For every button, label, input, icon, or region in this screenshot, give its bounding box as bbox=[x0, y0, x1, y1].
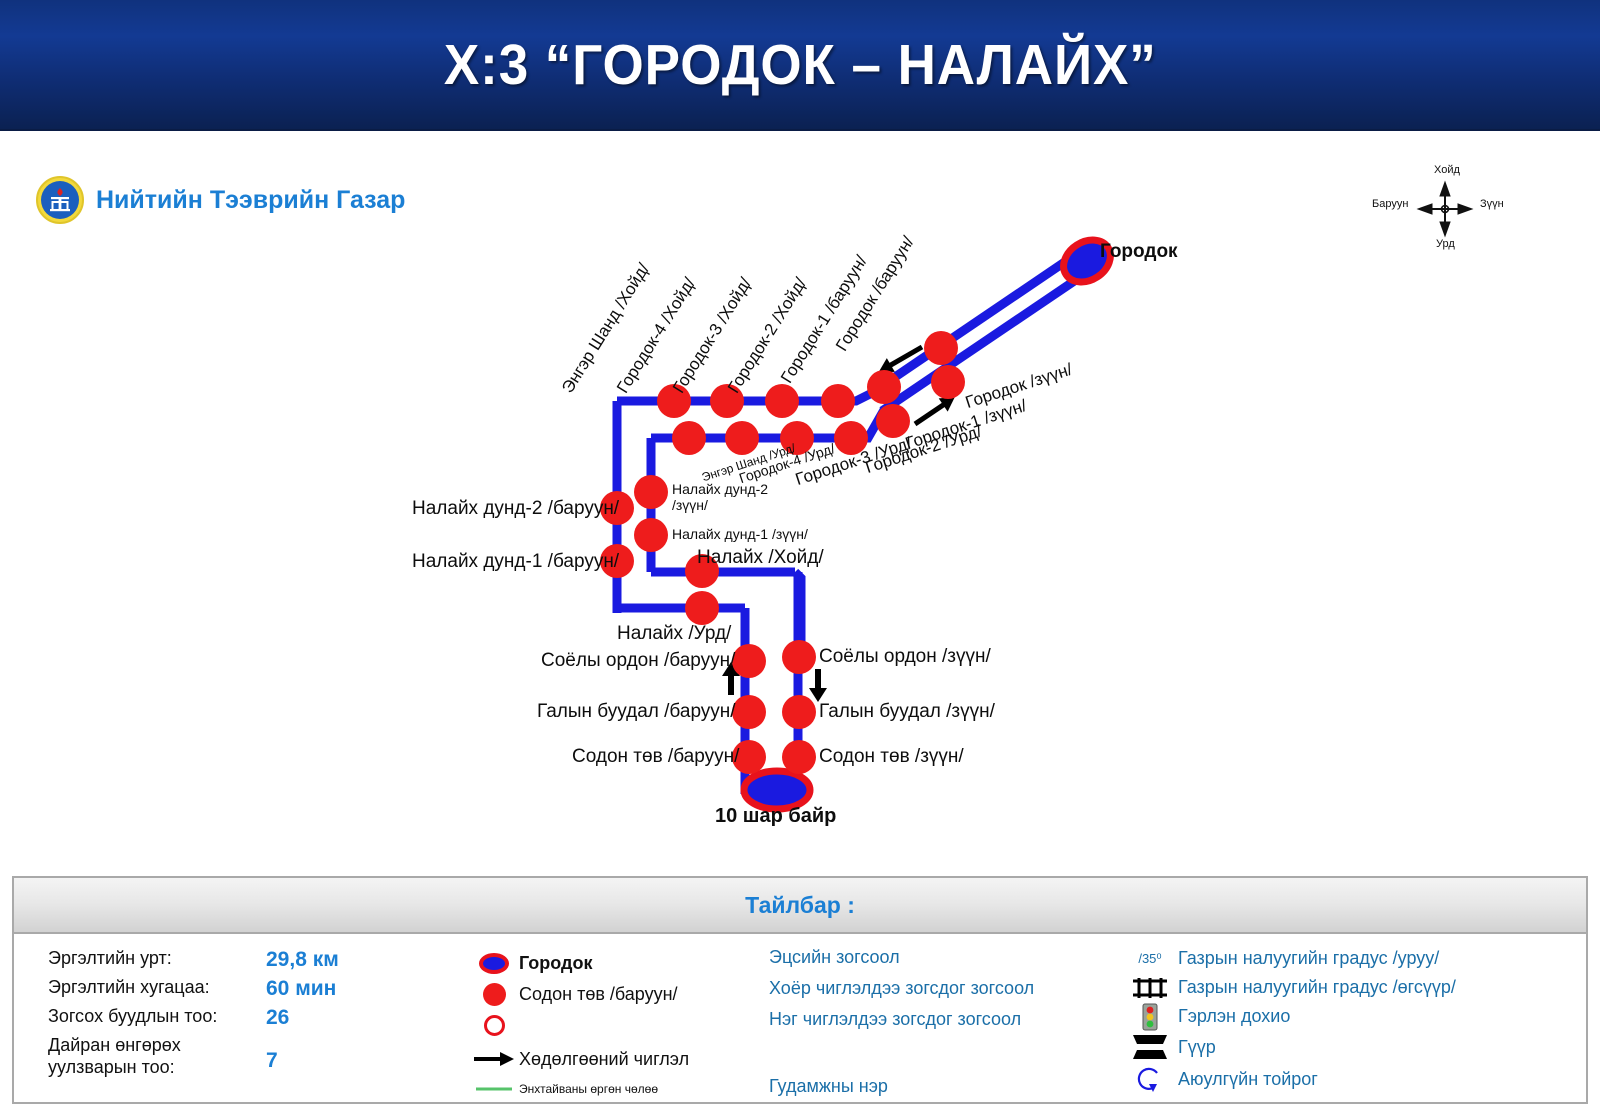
legend-item-peace-avenue: Энхтайваны өргөн чөлөө bbox=[469, 1077, 769, 1101]
legend-item-bridge: Гүүр bbox=[1122, 1031, 1562, 1063]
legend-header: Тайлбар : bbox=[14, 878, 1586, 934]
legend-text-terminal-stop: Эцсийн зогсоол bbox=[769, 948, 1099, 979]
roundabout-icon bbox=[1122, 1064, 1178, 1094]
stat-value-route-length: 29,8 км bbox=[266, 948, 339, 972]
legend-item-direction: Хөдөлгөөний чиглэл bbox=[469, 1041, 769, 1077]
page-title: X:3 “ГОРОДОК – НАЛАЙХ” bbox=[444, 32, 1157, 98]
terminal-label-gorodok: Городок bbox=[1100, 241, 1178, 263]
legend-panel: Тайлбар : Эргэлтийн урт: 29,8 км Эргэлти… bbox=[12, 876, 1588, 1104]
traffic-light-icon bbox=[1122, 1003, 1178, 1031]
title-bar: X:3 “ГОРОДОК – НАЛАЙХ” bbox=[0, 0, 1600, 131]
hollow-stop-icon bbox=[469, 1015, 519, 1036]
legend-text-street-name: Гудамжны нэр bbox=[769, 1077, 1099, 1101]
stop-label-soyol-ordon-zuun: Соёлы ордон /зүүн/ bbox=[819, 646, 991, 668]
legend-item-terminal: Городок bbox=[469, 948, 769, 979]
legend-item-bus-stop: Содон төв /баруун/ bbox=[469, 979, 769, 1010]
route-lines-svg bbox=[0, 129, 1600, 869]
legend-road-icons: /35⁰ Газрын налуугийн градус /уруу/ Газр… bbox=[1122, 944, 1562, 1095]
stop-label-galyn-buudal-zuun: Галын буудал /зүүн/ bbox=[819, 701, 995, 723]
arrow-right-icon bbox=[469, 1050, 519, 1068]
legend-label-traffic-light: Гэрлэн дохио bbox=[1178, 1006, 1290, 1027]
legend-body: Эргэлтийн урт: 29,8 км Эргэлтийн хугацаа… bbox=[14, 934, 1586, 1104]
legend-item-slope-down: /35⁰ Газрын налуугийн градус /уруу/ bbox=[1122, 944, 1562, 973]
legend-stats: Эргэлтийн урт: 29,8 км Эргэлтийн хугацаа… bbox=[48, 948, 408, 1084]
legend-text-bidirectional-stop: Хоёр чиглэлдээ зогсдог зогсоол bbox=[769, 979, 1099, 1010]
stop-label-nalaih-dund1-zuun: Налайх дунд-1 /зүүн/ bbox=[672, 526, 808, 542]
legend-text-unidirectional-stop: Нэг чиглэлдээ зогсдог зогсоол bbox=[769, 1010, 1099, 1041]
stat-label-route-length: Эргэлтийн урт: bbox=[48, 948, 266, 969]
stat-row: Дайран өнгөрөх уулзварын тоо: 7 bbox=[48, 1035, 408, 1079]
stop-label-nalaih-dund2-zuun: Налайх дунд-2 /зүүн/ bbox=[672, 481, 772, 513]
stat-value-intersection-count: 7 bbox=[266, 1035, 278, 1073]
stat-row: Эргэлтийн урт: 29,8 км bbox=[48, 948, 408, 972]
legend-item-traffic-light: Гэрлэн дохио bbox=[1122, 1002, 1562, 1031]
legend-title: Тайлбар : bbox=[745, 892, 855, 919]
stat-label-intersection-count: Дайран өнгөрөх уулзварын тоо: bbox=[48, 1035, 266, 1079]
stop-label-nalaih-hoid: Налайх /Хойд/ bbox=[697, 547, 824, 569]
legend-label-peace-avenue: Энхтайваны өргөн чөлөө bbox=[519, 1082, 658, 1096]
legend-label-direction: Хөдөлгөөний чиглэл bbox=[519, 1049, 689, 1070]
green-line-icon bbox=[469, 1085, 519, 1093]
slope-down-icon: /35⁰ bbox=[1122, 951, 1178, 967]
stop-label-nalaih-urd: Налайх /Урд/ bbox=[617, 623, 731, 645]
slope-up-icon bbox=[1122, 977, 1178, 999]
stat-label-route-time: Эргэлтийн хугацаа: bbox=[48, 977, 266, 998]
bus-stop-icon bbox=[469, 983, 519, 1006]
legend-item-roundabout: Аюулгүйн тойрог bbox=[1122, 1063, 1562, 1095]
legend-label-slope-up: Газрын налуугийн градус /өгсүүр/ bbox=[1178, 977, 1456, 998]
bridge-icon bbox=[1122, 1032, 1178, 1062]
stat-row: Эргэлтийн хугацаа: 60 мин bbox=[48, 977, 408, 1001]
slope-degree-label: /35⁰ bbox=[1138, 951, 1161, 967]
stop-label-nalaih-dund2-baruun: Налайх дунд-2 /баруун/ bbox=[412, 498, 619, 520]
stop-label-galyn-buudal-baruun: Галын буудал /баруун/ bbox=[537, 701, 736, 723]
stat-row: Зогсох буудлын тоо: 26 bbox=[48, 1006, 408, 1030]
stat-value-stop-count: 26 bbox=[266, 1006, 289, 1030]
stop-label-sodon-tov-baruun: Содон төв /баруун/ bbox=[572, 746, 739, 768]
stat-label-stop-count: Зогсох буудлын тоо: bbox=[48, 1006, 266, 1027]
legend-item-hollow-stop bbox=[469, 1010, 769, 1041]
legend-texts: Эцсийн зогсоол Хоёр чиглэлдээ зогсдог зо… bbox=[769, 948, 1099, 1101]
stop-label-nalaih-dund1-baruun: Налайх дунд-1 /баруун/ bbox=[412, 551, 619, 573]
legend-label-bus-stop: Содон төв /баруун/ bbox=[519, 984, 678, 1005]
legend-label-bridge: Гүүр bbox=[1178, 1037, 1216, 1058]
legend-label-terminal: Городок bbox=[519, 953, 593, 974]
route-map: Городок 10 шар байр Энгэр Шанд /Хойд/ Го… bbox=[0, 129, 1600, 869]
stop-label-soyol-ordon-baruun: Соёлы ордон /баруун/ bbox=[541, 650, 735, 672]
legend-text-blank bbox=[769, 1041, 1099, 1077]
terminal-label-10shar: 10 шар байр bbox=[715, 805, 836, 828]
terminal-stop-icon bbox=[469, 953, 519, 974]
legend-label-slope-down: Газрын налуугийн градус /уруу/ bbox=[1178, 948, 1439, 969]
legend-label-roundabout: Аюулгүйн тойрог bbox=[1178, 1069, 1318, 1090]
legend-symbols: Городок Содон төв /баруун/ Хөдөлгөөний ч… bbox=[469, 948, 769, 1101]
legend-item-slope-up: Газрын налуугийн градус /өгсүүр/ bbox=[1122, 973, 1562, 1002]
stop-label-sodon-tov-zuun: Содон төв /зүүн/ bbox=[819, 746, 964, 768]
stat-value-route-time: 60 мин bbox=[266, 977, 336, 1001]
